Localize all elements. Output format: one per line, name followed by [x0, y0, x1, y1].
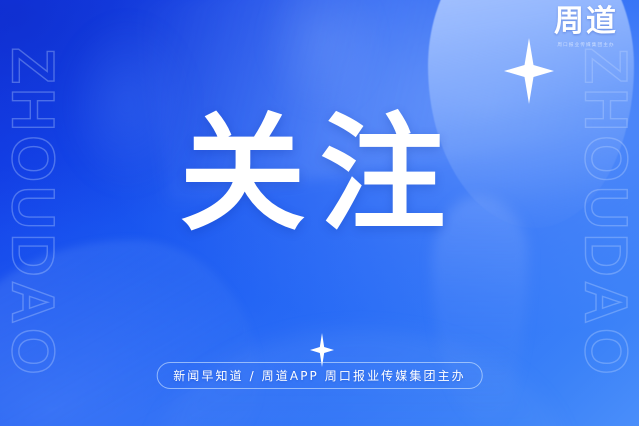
poster-canvas: ZHOUDAO ZHOUDAO 周道 周口报业传媒集团主办 关注 新闻早知道 /…: [0, 0, 639, 426]
brand-logo-subtitle: 周口报业传媒集团主办: [546, 41, 627, 48]
brand-logo: 周道 周口报业传媒集团主办: [543, 6, 629, 48]
brand-logo-wordmark: 周道: [543, 6, 629, 37]
footer-banner-text: 新闻早知道 / 周道APP 周口报业传媒集团主办: [173, 367, 466, 384]
page-title: 关注: [0, 112, 639, 238]
footer-banner: 新闻早知道 / 周道APP 周口报业传媒集团主办: [156, 362, 483, 389]
